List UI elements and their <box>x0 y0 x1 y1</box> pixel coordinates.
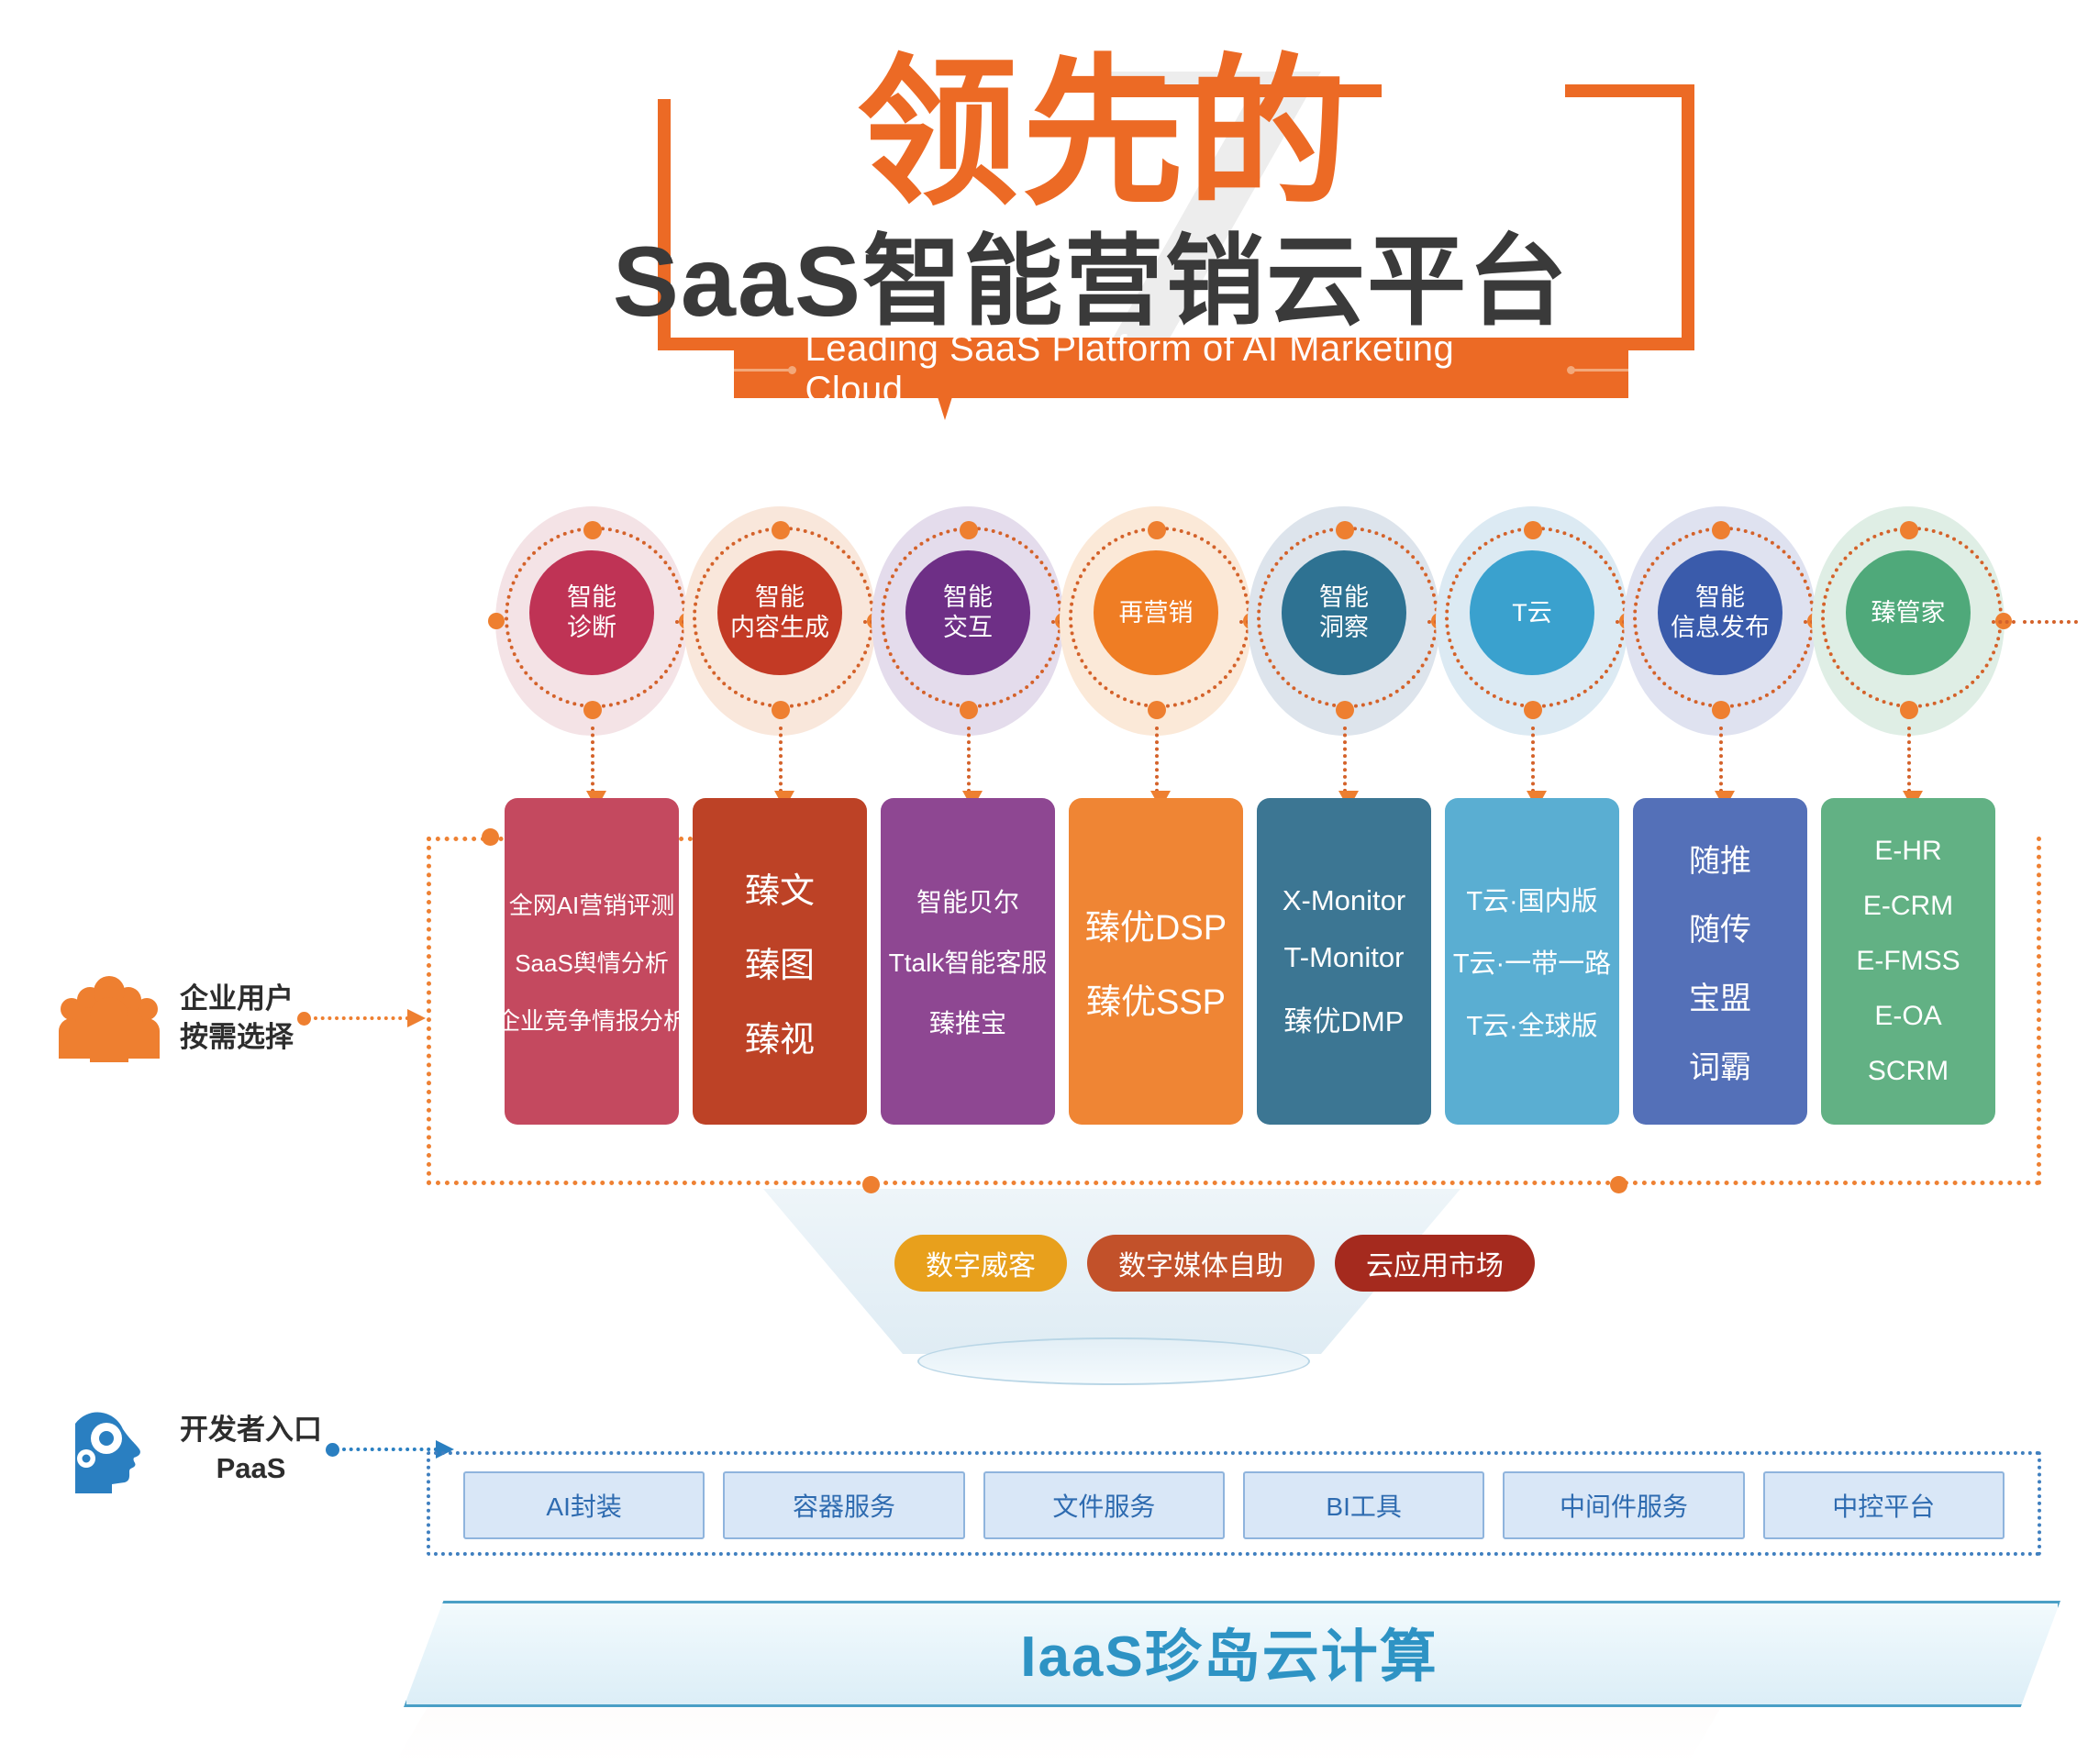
product-box-line: T云·全球版 <box>1466 1004 1597 1043</box>
product-box[interactable]: E-HRE-CRME-FMSSE-OASCRM <box>1821 798 1995 1125</box>
circle-to-box-arrow-icon <box>1155 727 1162 793</box>
capability-circle[interactable]: 智能信息发布 <box>1624 506 1816 736</box>
product-box-line: 宝盟 <box>1689 973 1751 1018</box>
people-group-icon <box>55 974 163 1062</box>
circle-label-line1: 智能 <box>567 582 616 613</box>
circle-node-dot <box>960 521 978 539</box>
product-box-line: T云·一带一路 <box>1453 942 1611 981</box>
circle-node-dot <box>960 701 978 719</box>
circle-to-box-arrow-icon <box>967 727 974 793</box>
product-box[interactable]: 全网AI营销评测SaaS舆情分析企业竞争情报分析 <box>505 798 679 1125</box>
marketplace-pill[interactable]: 数字威客 <box>894 1235 1067 1292</box>
enterprise-users-entry: 企业用户 按需选择 <box>55 974 439 1062</box>
marketplace-pill[interactable]: 云应用市场 <box>1335 1235 1535 1292</box>
product-box[interactable]: 随推随传宝盟词霸 <box>1633 798 1807 1125</box>
dash-left-icon <box>734 369 793 372</box>
capability-circle[interactable]: 智能诊断 <box>495 506 688 736</box>
page-subtitle: SaaS智能营销云平台 <box>0 232 2099 331</box>
circle-to-box-arrow-icon <box>1907 727 1915 793</box>
product-box-line: 随推 <box>1689 836 1751 881</box>
product-box-line: 全网AI营销评测 <box>509 887 675 921</box>
circle-node-dot <box>1524 701 1542 719</box>
paas-service-item[interactable]: 中间件服务 <box>1503 1471 1744 1539</box>
product-box-line: SaaS舆情分析 <box>515 945 669 979</box>
circle-node-dot <box>1900 701 1918 719</box>
enclosure-node-bottom <box>862 1176 880 1193</box>
english-tagline-text: Leading SaaS Platform of AI Marketing Cl… <box>805 328 1558 411</box>
page-title: 领先的 <box>0 53 2099 215</box>
product-box-line: E-CRM <box>1863 891 1953 922</box>
circle-node-dot <box>1148 701 1166 719</box>
circle-core: 智能交互 <box>905 550 1030 675</box>
funnel-base-ellipse <box>917 1337 1310 1385</box>
circle-core: 臻管家 <box>1846 550 1971 675</box>
dash-right-icon <box>1571 369 1629 372</box>
circle-core: 智能诊断 <box>529 550 654 675</box>
circle-to-box-arrow-icon <box>1531 727 1538 793</box>
circle-node-dot <box>1900 521 1918 539</box>
paas-service-item[interactable]: 容器服务 <box>723 1471 964 1539</box>
circle-node-dot <box>1524 521 1542 539</box>
circle-trailing-connector <box>2023 620 2078 627</box>
product-box[interactable]: 臻文臻图臻视 <box>693 798 867 1125</box>
paas-service-item[interactable]: AI封装 <box>463 1471 705 1539</box>
marketplace-pill-row: 数字威客数字媒体自助云应用市场 <box>894 1235 1592 1299</box>
enterprise-users-line2: 按需选择 <box>180 1018 294 1057</box>
product-box[interactable]: 智能贝尔Ttalk智能客服臻推宝 <box>881 798 1055 1125</box>
page-title-text: 领先的 <box>857 44 1352 224</box>
circle-node-dot <box>583 701 602 719</box>
capability-circle[interactable]: 智能内容生成 <box>683 506 876 736</box>
product-box-line: SCRM <box>1868 1056 1949 1087</box>
circle-node-dot <box>1336 521 1354 539</box>
platform-architecture-diagram: 企业用户 按需选择 开发者入口 PaaS 智能诊断智能内容生成智能交互再营销智能… <box>0 495 2099 1764</box>
developer-entry: 开发者入口 PaaS <box>55 1405 467 1493</box>
product-box-line: 智能贝尔 <box>916 882 1019 919</box>
paas-service-row: AI封装容器服务文件服务BI工具中间件服务中控平台 <box>463 1471 2005 1537</box>
product-box-line: 臻优DSP <box>1085 899 1227 949</box>
circle-label-line2: 洞察 <box>1319 613 1369 643</box>
product-box[interactable]: X-MonitorT-Monitor臻优DMP <box>1257 798 1431 1125</box>
circle-node-dot <box>1712 521 1730 539</box>
circle-node-dot <box>1712 701 1730 719</box>
circle-node-dot <box>1148 521 1166 539</box>
circle-label-line1: 再营销 <box>1119 598 1194 628</box>
capability-circle[interactable]: 智能交互 <box>872 506 1064 736</box>
paas-service-item[interactable]: BI工具 <box>1243 1471 1484 1539</box>
capability-circle[interactable]: 智能洞察 <box>1248 506 1440 736</box>
circle-label-line1: 智能 <box>755 582 805 613</box>
developer-line1: 开发者入口 <box>180 1411 322 1449</box>
enclosure-node-bottom-right <box>1610 1176 1627 1193</box>
product-box-line: 臻文 <box>745 862 815 913</box>
circle-to-box-arrow-icon <box>591 727 598 793</box>
paas-service-item[interactable]: 文件服务 <box>983 1471 1225 1539</box>
circle-label-line1: 臻管家 <box>1871 598 1946 628</box>
circle-core: 再营销 <box>1094 550 1218 675</box>
circle-label-line1: 智能 <box>1695 582 1745 613</box>
capability-circle-row: 智能诊断智能内容生成智能交互再营销智能洞察T云智能信息发布臻管家 <box>495 506 2000 736</box>
circle-to-box-arrow-icon <box>1719 727 1727 793</box>
product-box-line: 企业竞争情报分析 <box>496 1003 687 1037</box>
product-box[interactable]: T云·国内版T云·一带一路T云·全球版 <box>1445 798 1619 1125</box>
circle-to-box-arrow-icon <box>1343 727 1350 793</box>
product-box-line: X-Monitor <box>1283 884 1405 917</box>
product-box-line: 臻图 <box>745 937 815 987</box>
product-box-line: E-OA <box>1874 1001 1941 1032</box>
capability-circle[interactable]: 再营销 <box>1060 506 1252 736</box>
paas-service-item[interactable]: 中控平台 <box>1763 1471 2005 1539</box>
circle-label-line2: 信息发布 <box>1671 613 1770 643</box>
product-box-line: 臻优DMP <box>1284 998 1405 1039</box>
product-box-line: Ttalk智能客服 <box>889 943 1048 980</box>
product-box-line: E-FMSS <box>1856 946 1960 977</box>
circle-label-line1: T云 <box>1512 598 1552 628</box>
capability-circle[interactable]: T云 <box>1436 506 1628 736</box>
circle-label-line2: 诊断 <box>567 613 616 643</box>
developer-line2: PaaS <box>180 1449 322 1488</box>
product-box-line: T云·国内版 <box>1466 880 1597 918</box>
product-box-line: 臻推宝 <box>929 1004 1006 1040</box>
english-tagline: Leading SaaS Platform of AI Marketing Cl… <box>734 341 1628 398</box>
page-subtitle-text: SaaS智能营销云平台 <box>613 226 1569 337</box>
product-box-line: 随传 <box>1689 904 1751 949</box>
enterprise-arrow-icon <box>297 1009 435 1027</box>
iaas-label-text: IaaS珍岛云计算 <box>1020 1610 1438 1692</box>
product-box-line: T-Monitor <box>1284 941 1405 974</box>
marketplace-pill[interactable]: 数字媒体自助 <box>1087 1235 1315 1292</box>
enterprise-users-line1: 企业用户 <box>180 980 294 1018</box>
circle-node-dot <box>583 521 602 539</box>
product-box-line: 臻优SSP <box>1086 973 1226 1024</box>
developer-label: 开发者入口 PaaS <box>180 1411 322 1488</box>
product-box[interactable]: 臻优DSP臻优SSP <box>1069 798 1243 1125</box>
header-banner: 领先的 SaaS智能营销云平台 Leading SaaS Platform of… <box>0 0 2099 495</box>
circle-to-box-arrow-icon <box>779 727 786 793</box>
product-box-line: E-HR <box>1874 836 1941 867</box>
iaas-label: IaaS珍岛云计算 <box>404 1601 2055 1702</box>
product-box-line: 臻视 <box>745 1011 815 1061</box>
circle-node-dot <box>772 521 790 539</box>
circle-node-dot <box>1336 701 1354 719</box>
head-gears-icon <box>55 1405 163 1493</box>
circle-label-line2: 内容生成 <box>730 613 829 643</box>
circle-label-line1: 智能 <box>943 582 993 613</box>
circle-label-line1: 智能 <box>1319 582 1369 613</box>
product-box-row: 全网AI营销评测SaaS舆情分析企业竞争情报分析臻文臻图臻视智能贝尔Ttalk智… <box>495 798 2000 1125</box>
capability-circle[interactable]: 臻管家 <box>1812 506 2005 736</box>
enterprise-users-label: 企业用户 按需选择 <box>180 980 294 1057</box>
circle-label-line2: 交互 <box>943 613 993 643</box>
product-box-line: 词霸 <box>1689 1042 1751 1087</box>
circle-connector <box>1992 620 2016 627</box>
circle-core: 智能洞察 <box>1282 550 1406 675</box>
circle-core: T云 <box>1470 550 1594 675</box>
circle-node-dot <box>772 701 790 719</box>
circle-core: 智能信息发布 <box>1658 550 1782 675</box>
circle-node-dot <box>488 613 505 629</box>
circle-core: 智能内容生成 <box>717 550 842 675</box>
